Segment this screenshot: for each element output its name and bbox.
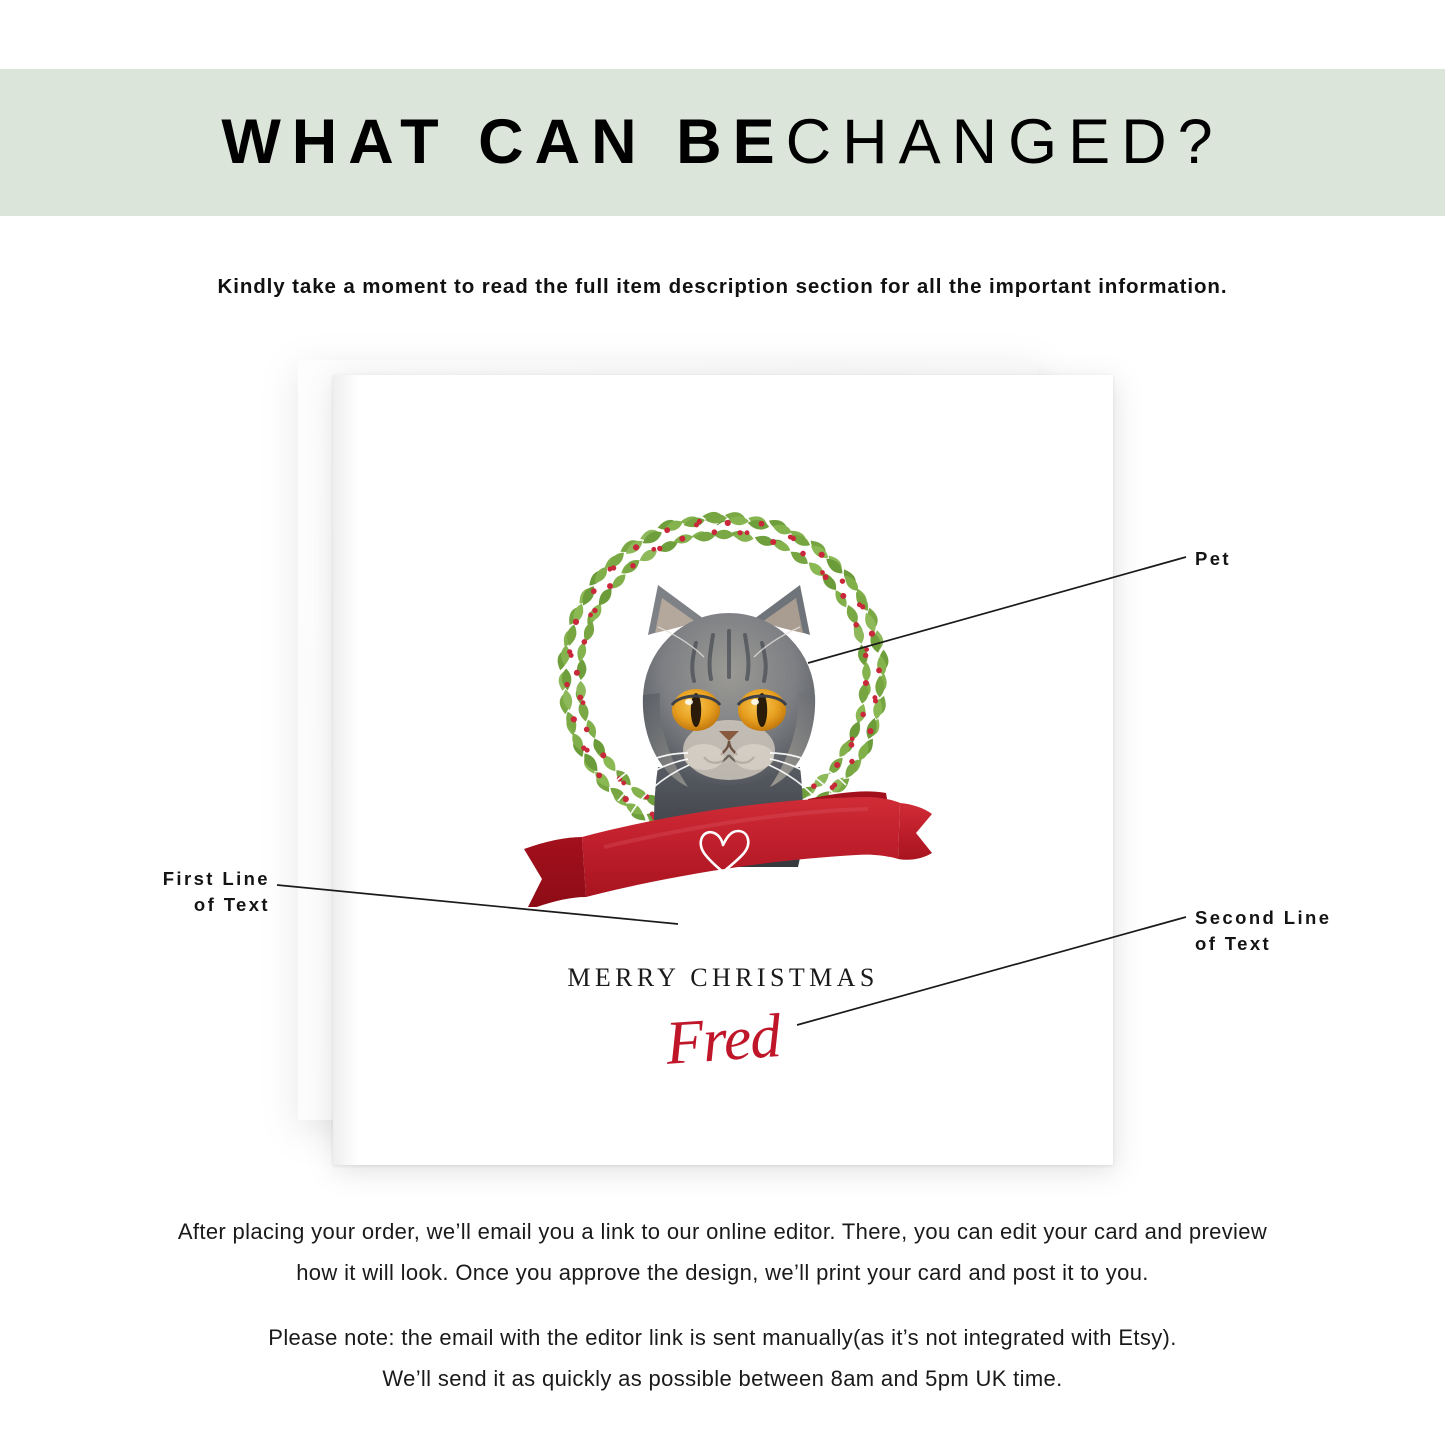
annotation-second-line-2: of Text	[1195, 931, 1331, 957]
page-title: WHAT CAN BECHANGED?	[221, 111, 1223, 174]
card-mockup: MERRY CHRISTMAS Fred	[270, 330, 1170, 1200]
annotation-pet-label: Pet	[1195, 548, 1231, 569]
footer-paragraph-1: After placing your order, we’ll email yo…	[0, 1212, 1445, 1293]
card-second-line-text: Fred	[331, 978, 1114, 1103]
annotation-second-line: Second Line of Text	[1195, 905, 1331, 958]
page-title-strong: WHAT CAN BE	[221, 107, 785, 177]
footer-p1-line1: After placing your order, we’ll email yo…	[0, 1212, 1445, 1253]
annotation-pet: Pet	[1195, 546, 1231, 572]
annotation-second-line-1: Second Line	[1195, 905, 1331, 931]
wreath-cat-artwork	[508, 467, 938, 907]
footer-p2-line1: Please note: the email with the editor l…	[0, 1318, 1445, 1359]
footer-paragraph-2: Please note: the email with the editor l…	[0, 1318, 1445, 1399]
annotation-first-line: First Line of Text	[60, 866, 270, 919]
card-front-sheet: MERRY CHRISTMAS Fred	[333, 375, 1113, 1165]
header-band: WHAT CAN BECHANGED?	[0, 69, 1445, 216]
annotation-first-line-1: First Line	[60, 866, 270, 892]
page-title-light: CHANGED?	[786, 107, 1224, 177]
footer-p1-line2: how it will look. Once you approve the d…	[0, 1253, 1445, 1294]
ribbon-banner	[524, 791, 932, 907]
footer-p2-line2: We’ll send it as quickly as possible bet…	[0, 1359, 1445, 1400]
annotation-first-line-2: of Text	[60, 892, 270, 918]
subtitle-note: Kindly take a moment to read the full it…	[0, 275, 1445, 299]
